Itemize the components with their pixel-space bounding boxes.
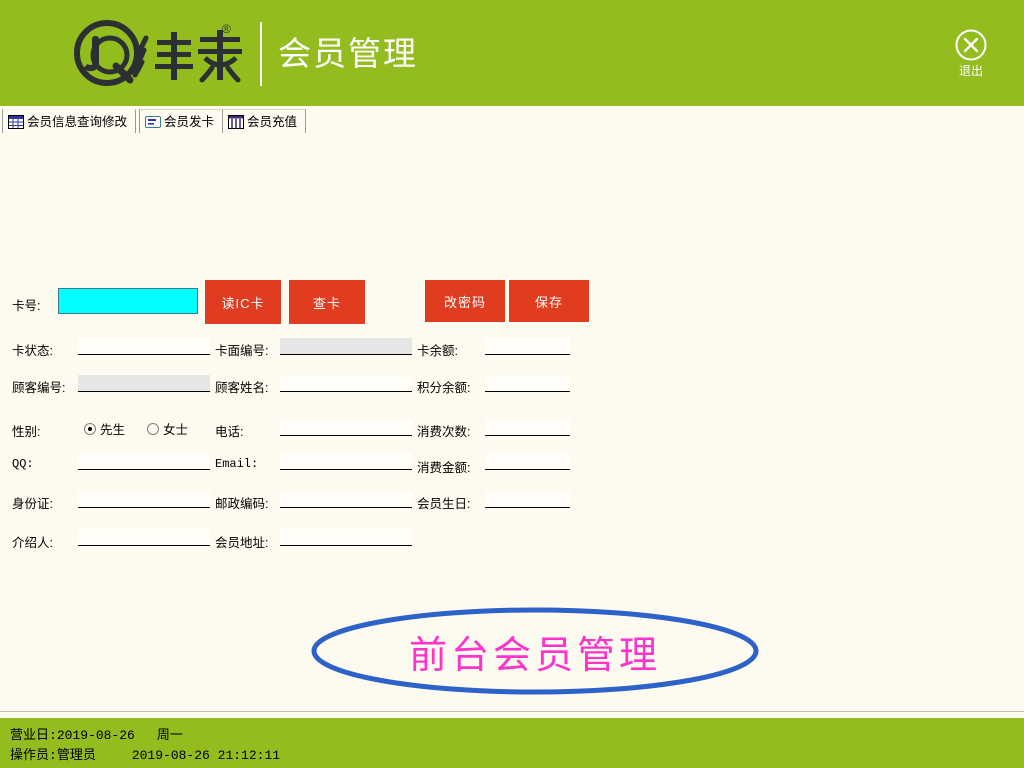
business-day-value: 2019-08-26 — [57, 728, 135, 743]
circle-x-icon — [954, 28, 988, 62]
card-status-label: 卡状态: — [12, 340, 53, 359]
card-icon — [145, 115, 161, 129]
read-ic-card-button[interactable]: 读IC卡 — [205, 280, 281, 324]
referrer-input[interactable] — [78, 529, 210, 546]
gender-radio-male[interactable]: 先生 — [84, 419, 125, 438]
business-day-line: 营业日:2019-08-26周一 — [10, 724, 183, 743]
operator-line: 操作员:管理员2019-08-26 21:12:11 — [10, 744, 280, 763]
change-password-button[interactable]: 改密码 — [425, 280, 505, 322]
weekday-value: 周一 — [157, 728, 183, 743]
customer-name-label: 顾客姓名: — [215, 377, 268, 396]
app-header: ® 会员管理 退出 — [0, 0, 1024, 106]
postal-code-label: 邮政编码: — [215, 493, 268, 512]
member-address-input[interactable] — [280, 529, 412, 546]
customer-name-input[interactable] — [280, 375, 412, 392]
content-panel: 卡号: 读IC卡 查卡 改密码 保存 卡状态: 顾客编号: 性别: 先生 女士 … — [0, 134, 1024, 712]
page-title: 会员管理 — [278, 33, 418, 75]
current-datetime: 2019-08-26 21:12:11 — [132, 748, 280, 763]
referrer-label: 介绍人: — [12, 532, 53, 551]
qq-label: QQ: — [12, 457, 34, 471]
operator-label: 操作员: — [10, 748, 57, 763]
app-window: ® 会员管理 退出 会员信息查询修改 — [0, 0, 1024, 768]
tab-label: 会员信息查询修改 — [27, 115, 127, 129]
qq-input[interactable] — [78, 453, 210, 470]
tab-member-recharge[interactable]: 会员充值 — [222, 109, 306, 133]
radio-mark-icon — [84, 423, 96, 435]
grid-card-icon — [228, 115, 244, 129]
member-birthday-input[interactable] — [485, 491, 570, 508]
tab-label: 会员充值 — [247, 115, 297, 129]
consume-amount-input[interactable] — [485, 453, 570, 470]
tab-member-info-query[interactable]: 会员信息查询修改 — [2, 109, 136, 133]
id-card-label: 身份证: — [12, 493, 53, 512]
email-label: Email: — [215, 457, 258, 471]
postal-code-input[interactable] — [280, 491, 412, 508]
tab-member-card-issue[interactable]: 会员发卡 — [139, 109, 223, 133]
card-face-no-label: 卡面编号: — [215, 340, 268, 359]
card-face-no-input[interactable] — [280, 338, 412, 355]
tab-label: 会员发卡 — [164, 115, 214, 129]
query-card-button[interactable]: 查卡 — [289, 280, 365, 324]
save-button[interactable]: 保存 — [509, 280, 589, 322]
card-status-input[interactable] — [78, 338, 210, 355]
exit-label: 退出 — [942, 64, 1000, 78]
points-balance-label: 积分余额: — [417, 377, 470, 396]
gender-radio-female[interactable]: 女士 — [147, 419, 188, 438]
phone-input[interactable] — [280, 419, 412, 436]
consume-count-input[interactable] — [485, 419, 570, 436]
watermark-text: 前台会员管理 — [310, 607, 760, 695]
email-input[interactable] — [280, 453, 412, 470]
card-no-input[interactable] — [58, 288, 198, 314]
radio-mark-icon — [147, 423, 159, 435]
gender-female-label: 女士 — [163, 419, 188, 438]
id-card-input[interactable] — [78, 491, 210, 508]
gender-label: 性别: — [12, 421, 40, 440]
watermark: 前台会员管理 — [310, 607, 760, 695]
phone-label: 电话: — [215, 421, 243, 440]
member-birthday-label: 会员生日: — [417, 493, 470, 512]
operator-value: 管理员 — [57, 748, 96, 763]
tab-strip: 会员信息查询修改 会员发卡 会员充值 — [0, 106, 1024, 135]
customer-no-input[interactable] — [78, 375, 210, 392]
gender-male-label: 先生 — [100, 419, 125, 438]
points-balance-input[interactable] — [485, 375, 570, 392]
card-balance-label: 卡余额: — [417, 340, 458, 359]
brand-registered-mark: ® — [222, 22, 231, 36]
status-bar: 营业日:2019-08-26周一 操作员:管理员2019-08-26 21:12… — [0, 718, 1024, 768]
member-address-label: 会员地址: — [215, 532, 268, 551]
header-divider — [260, 22, 262, 86]
consume-amount-label: 消费金额: — [417, 457, 470, 476]
exit-button[interactable]: 退出 — [942, 28, 1000, 78]
card-no-label: 卡号: — [12, 295, 40, 314]
gender-radio-group: 先生 女士 — [84, 419, 210, 438]
business-day-label: 营业日: — [10, 728, 57, 743]
table-window-icon — [8, 115, 24, 129]
card-balance-input[interactable] — [485, 338, 570, 355]
customer-no-label: 顾客编号: — [12, 377, 65, 396]
consume-count-label: 消费次数: — [417, 421, 470, 440]
